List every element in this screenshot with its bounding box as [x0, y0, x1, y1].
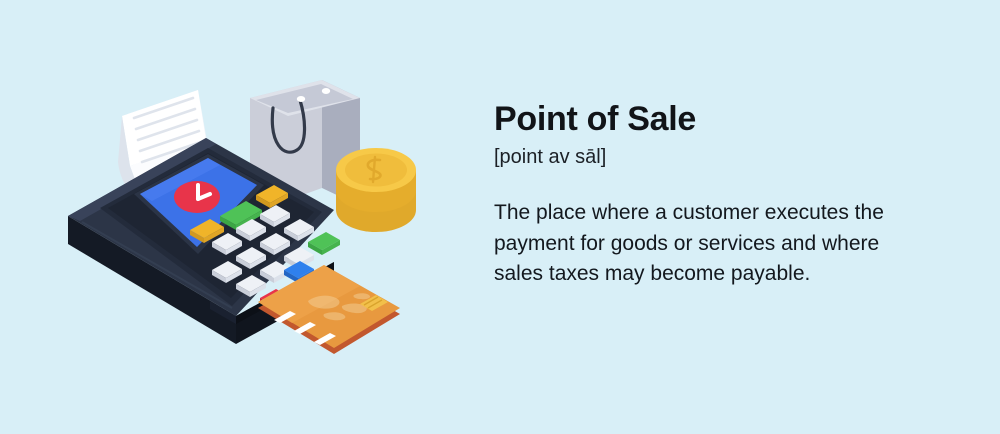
- pronunciation: [point av sāl]: [494, 144, 914, 170]
- definition-text: The place where a customer executes the …: [494, 198, 886, 289]
- keypad-green-key: [308, 232, 340, 255]
- clock-icon: [174, 181, 220, 213]
- coin-stack-icon: [336, 148, 416, 232]
- definition-card: Point of Sale [point av sāl] The place w…: [0, 0, 1000, 434]
- point-of-sale-illustration: [60, 58, 460, 378]
- definition-text-block: Point of Sale [point av sāl] The place w…: [494, 100, 914, 289]
- page-title: Point of Sale: [494, 100, 914, 138]
